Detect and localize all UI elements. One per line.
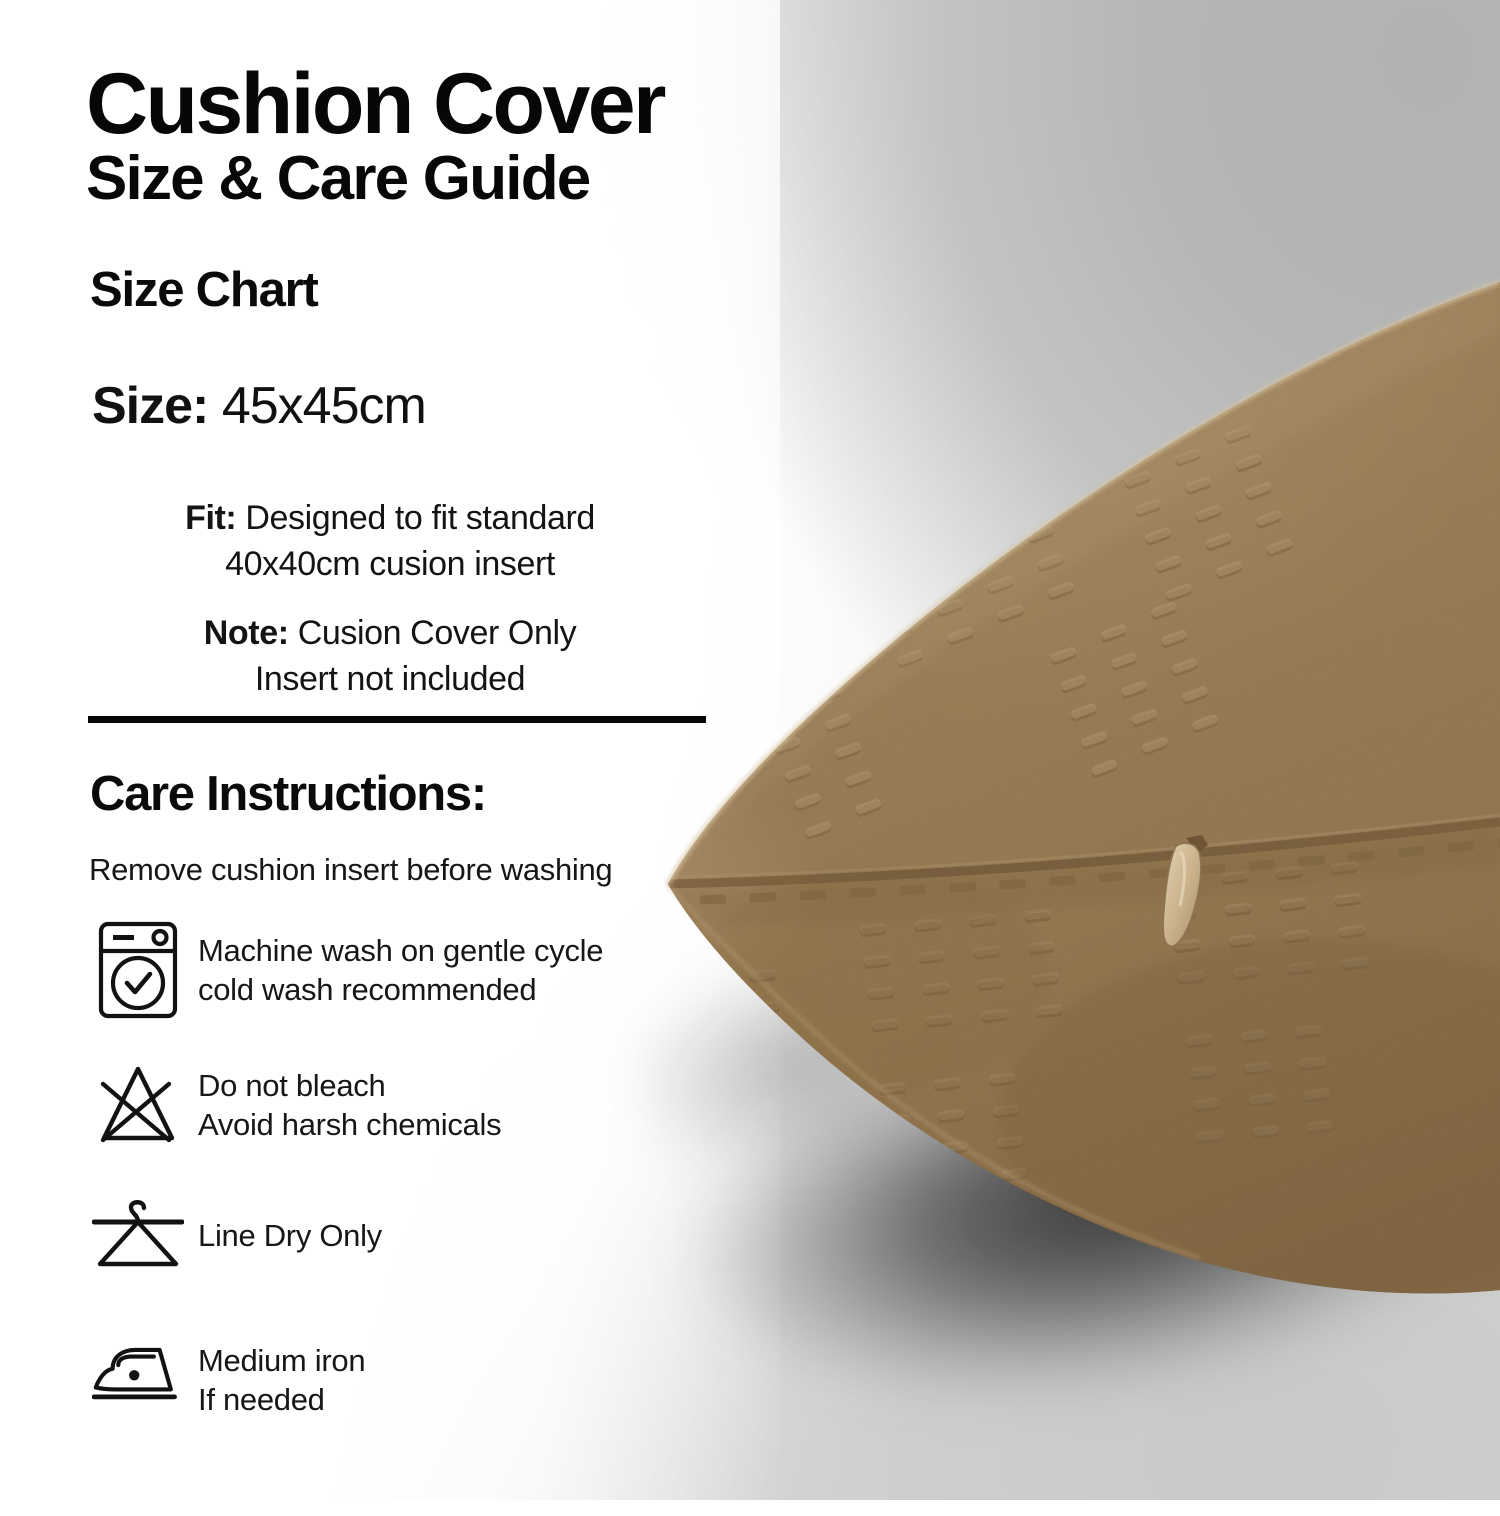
care-item-line-dry: Line Dry Only (92, 1196, 382, 1276)
care-instructions-heading: Care Instructions: (90, 766, 486, 822)
care-item-label: Do not bleach Avoid harsh chemicals (198, 1066, 501, 1144)
fit-label: Fit: (185, 499, 236, 537)
care-item-do-not-bleach: Do not bleach Avoid harsh chemicals (92, 1062, 501, 1148)
size-chart-heading: Size Chart (90, 262, 318, 318)
medium-iron-icon (92, 1340, 184, 1420)
care-item-label: Line Dry Only (198, 1216, 382, 1255)
section-divider (88, 716, 706, 723)
note-label: Note: (204, 614, 289, 652)
note-line2: Insert not included (80, 657, 700, 703)
do-not-bleach-icon (92, 1062, 184, 1148)
care-item-label: Medium iron If needed (198, 1341, 365, 1419)
fit-line1: Fit: Designed to fit standard (80, 496, 700, 542)
note-value: Cusion Cover Only (298, 614, 577, 652)
washing-machine-icon (92, 920, 184, 1020)
page-title-line2: Size & Care Guide (86, 148, 589, 210)
info-panel: Cushion Cover Size & Care Guide Size Cha… (0, 0, 1500, 1500)
care-item-label: Machine wash on gentle cycle cold wash r… (198, 931, 603, 1009)
note-block: Note: Cusion Cover Only Insert not inclu… (80, 611, 700, 702)
fit-block: Fit: Designed to fit standard 40x40cm cu… (80, 496, 700, 587)
fit-value: Designed to fit standard (245, 499, 595, 537)
size-row: Size: 45x45cm (92, 376, 426, 436)
care-item-medium-iron: Medium iron If needed (92, 1340, 365, 1420)
care-item-machine-wash: Machine wash on gentle cycle cold wash r… (92, 920, 603, 1020)
care-lead-text: Remove cushion insert before washing (89, 852, 612, 888)
size-value: 45x45cm (222, 377, 426, 435)
size-label: Size: (92, 377, 208, 435)
note-line1: Note: Cusion Cover Only (80, 611, 700, 657)
line-dry-hanger-icon (92, 1196, 184, 1276)
fit-line2: 40x40cm cusion insert (80, 542, 700, 588)
page-title-line1: Cushion Cover (86, 62, 664, 146)
